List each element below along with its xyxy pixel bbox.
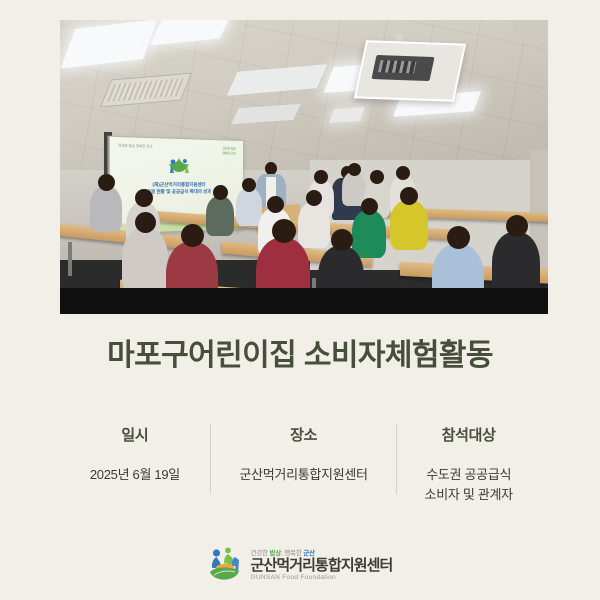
- info-heading: 장소: [211, 424, 397, 445]
- gunsan-food-foundation-logo-icon: [208, 546, 242, 582]
- slide-logo-icon: [165, 156, 195, 178]
- projector-icon: [371, 55, 434, 81]
- audience-member: [390, 200, 428, 250]
- audience-member: [298, 202, 330, 248]
- info-value: 군산먹거리통합지원센터: [211, 465, 397, 485]
- info-heading: 일시: [60, 424, 210, 445]
- audience-member: [352, 210, 386, 258]
- slide-header-right: 건강한 밥상 행복한 군산: [222, 146, 235, 155]
- event-photo: 건강한 밥상 행복한 군산 건강한 밥상 행복한 군산 (재)군산먹거리통합지원…: [60, 20, 548, 314]
- audience-member: [90, 186, 122, 232]
- audience-member: [122, 228, 168, 294]
- footer-tagline: 건강한 밥상, 행복한 군산: [251, 547, 393, 557]
- info-column-place: 장소 군산먹거리통합지원센터: [211, 420, 397, 485]
- tagline-mid: , 행복한: [281, 550, 303, 557]
- audience-member: [236, 188, 262, 226]
- page-title: 마포구어린이집 소비자체험활동: [0, 330, 600, 374]
- desk-leg: [68, 242, 72, 276]
- info-heading: 참석대상: [397, 424, 540, 445]
- ceiling-light: [329, 107, 365, 123]
- photo-foreground-shadow: [60, 288, 548, 314]
- info-column-date: 일시 2025년 6월 19일: [60, 420, 210, 485]
- organization-name-en: GUNSAN Food Foundation: [251, 574, 393, 581]
- info-column-audience: 참석대상 수도권 공공급식 소비자 및 관계자: [397, 420, 540, 505]
- event-info-row: 일시 2025년 6월 19일 장소 군산먹거리통합지원센터 참석대상 수도권 …: [60, 420, 540, 505]
- poster-card: 건강한 밥상 행복한 군산 건강한 밥상 행복한 군산 (재)군산먹거리통합지원…: [0, 0, 600, 600]
- tagline-pre: 건강한: [251, 550, 270, 557]
- footer-logo-text: 건강한 밥상, 행복한 군산 군산먹거리통합지원센터 GUNSAN Food F…: [251, 547, 393, 582]
- tagline-green: 밥상: [270, 550, 282, 557]
- organization-name: 군산먹거리통합지원센터: [251, 558, 393, 574]
- info-value: 수도권 공공급식 소비자 및 관계자: [397, 465, 540, 505]
- slide-header-left: 건강한 밥상 행복한 군산: [118, 143, 152, 148]
- tagline-blue: 군산: [303, 550, 315, 557]
- audience-member: [206, 196, 234, 236]
- info-value: 2025년 6월 19일: [60, 465, 210, 485]
- footer-logo: 건강한 밥상, 행복한 군산 군산먹거리통합지원센터 GUNSAN Food F…: [0, 546, 600, 582]
